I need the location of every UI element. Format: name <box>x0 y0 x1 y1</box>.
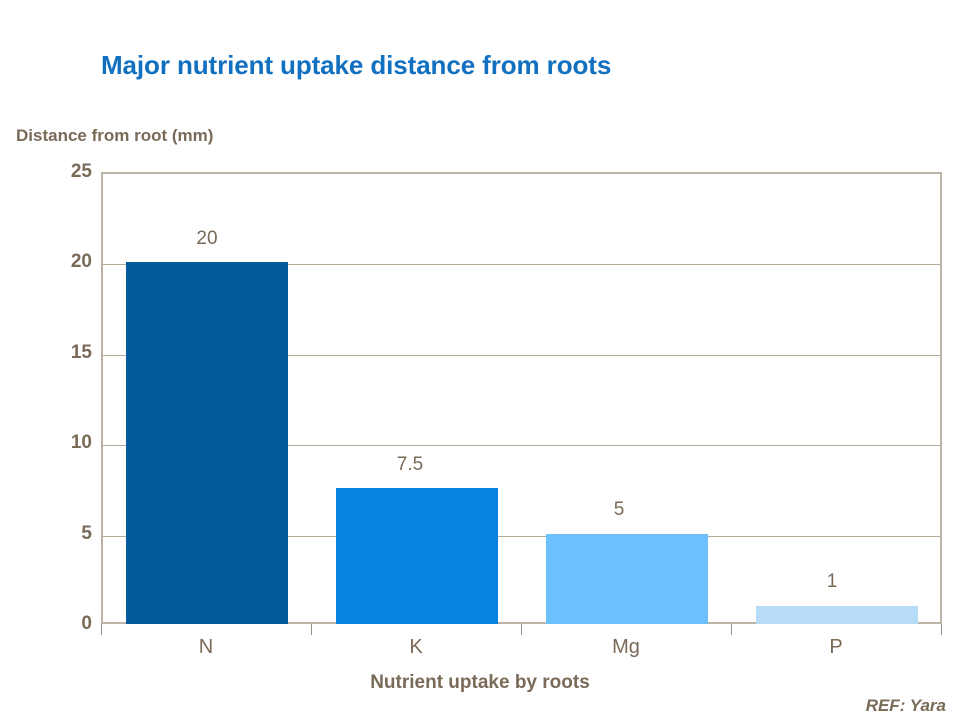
y-tick-label: 10 <box>14 432 92 454</box>
x-tick-label-p: P <box>731 636 941 659</box>
x-tick-label-n: N <box>101 636 311 659</box>
y-tick-label: 25 <box>14 161 92 183</box>
x-tick-mark <box>101 624 102 635</box>
bar-k[interactable] <box>336 488 498 624</box>
bar-p[interactable] <box>756 606 918 624</box>
y-tick-label: 0 <box>14 613 92 635</box>
bar-mg[interactable] <box>546 534 708 624</box>
reference-note: REF: Yara <box>866 696 946 716</box>
x-tick-mark <box>521 624 522 635</box>
chart-container: Major nutrient uptake distance from root… <box>0 0 960 720</box>
y-axis-ticks: 25 20 15 10 5 0 <box>0 172 92 624</box>
x-tick-label-k: K <box>311 636 521 659</box>
x-tick-mark <box>311 624 312 635</box>
bar-n[interactable] <box>126 262 288 624</box>
bar-value-p: 1 <box>751 571 913 593</box>
y-tick-label: 20 <box>14 251 92 273</box>
y-tick-label: 5 <box>14 523 92 545</box>
bars-layer: 20 7.5 5 1 <box>101 172 942 624</box>
x-axis-title: Nutrient uptake by roots <box>0 672 960 694</box>
y-tick-label: 15 <box>14 342 92 364</box>
y-axis-title: Distance from root (mm) <box>16 126 213 146</box>
x-tick-mark <box>941 624 942 635</box>
bar-value-n: 20 <box>126 228 288 250</box>
x-tick-mark <box>731 624 732 635</box>
bar-value-k: 7.5 <box>329 454 491 476</box>
x-tick-label-mg: Mg <box>521 636 731 659</box>
chart-title: Major nutrient uptake distance from root… <box>101 50 881 81</box>
bar-value-mg: 5 <box>538 499 700 521</box>
